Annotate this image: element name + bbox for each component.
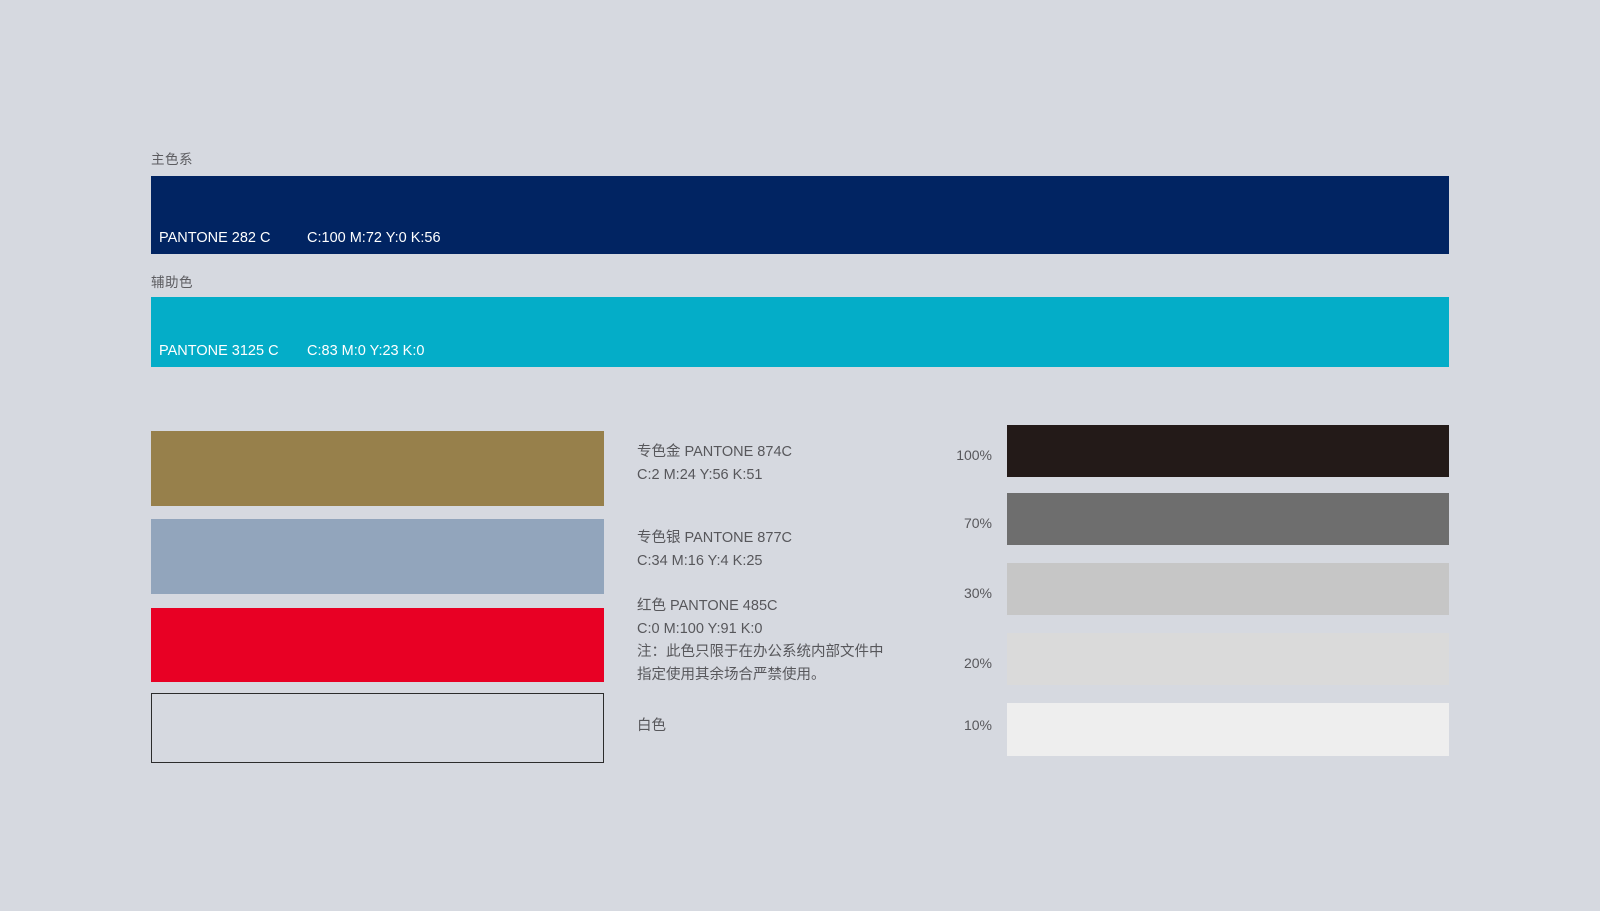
- primary-cmyk-values: C:100 M:72 Y:0 K:56: [307, 230, 441, 246]
- red-color-swatch: [151, 608, 604, 682]
- gold-cmyk-values: C:2 M:24 Y:56 K:51: [637, 464, 792, 487]
- silver-color-title: 专色银 PANTONE 877C: [637, 527, 792, 550]
- tint-swatch-70: [1007, 493, 1449, 545]
- red-usage-note-line-2: 指定使用其余场合严禁使用。: [637, 664, 884, 687]
- white-color-swatch: [151, 693, 604, 763]
- tint-swatch-100: [1007, 425, 1449, 477]
- white-color-description: 白色: [637, 715, 666, 738]
- color-specification-sheet: 主色系 PANTONE 282 C C:100 M:72 Y:0 K:56 辅助…: [0, 0, 1600, 911]
- red-color-description: 红色 PANTONE 485C C:0 M:100 Y:91 K:0 注：此色只…: [637, 595, 884, 687]
- silver-color-swatch: [151, 519, 604, 594]
- silver-color-description: 专色银 PANTONE 877C C:34 M:16 Y:4 K:25: [637, 527, 792, 573]
- primary-color-swatch: PANTONE 282 C C:100 M:72 Y:0 K:56: [151, 176, 1449, 254]
- tint-swatch-30: [1007, 563, 1449, 615]
- primary-pantone-code: PANTONE 282 C: [159, 230, 307, 246]
- primary-color-section-label: 主色系: [151, 148, 193, 168]
- tint-label-100: 100%: [952, 447, 992, 463]
- white-color-title: 白色: [637, 715, 666, 738]
- secondary-pantone-code: PANTONE 3125 C: [159, 343, 307, 359]
- gold-color-swatch: [151, 431, 604, 506]
- secondary-color-caption: PANTONE 3125 C C:83 M:0 Y:23 K:0: [159, 343, 424, 359]
- tint-swatch-10: [1007, 703, 1449, 756]
- tint-label-30: 30%: [952, 585, 992, 601]
- red-usage-note-line-1: 注：此色只限于在办公系统内部文件中: [637, 641, 884, 664]
- secondary-color-swatch: PANTONE 3125 C C:83 M:0 Y:23 K:0: [151, 297, 1449, 367]
- tint-swatch-20: [1007, 633, 1449, 685]
- secondary-cmyk-values: C:83 M:0 Y:23 K:0: [307, 343, 424, 359]
- silver-cmyk-values: C:34 M:16 Y:4 K:25: [637, 550, 792, 573]
- tint-label-10: 10%: [952, 717, 992, 733]
- red-color-title: 红色 PANTONE 485C: [637, 595, 884, 618]
- secondary-color-section-label: 辅助色: [151, 271, 193, 291]
- red-cmyk-values: C:0 M:100 Y:91 K:0: [637, 618, 884, 641]
- gold-color-description: 专色金 PANTONE 874C C:2 M:24 Y:56 K:51: [637, 441, 792, 487]
- gold-color-title: 专色金 PANTONE 874C: [637, 441, 792, 464]
- tint-label-70: 70%: [952, 515, 992, 531]
- tint-label-20: 20%: [952, 655, 992, 671]
- primary-color-caption: PANTONE 282 C C:100 M:72 Y:0 K:56: [159, 230, 441, 246]
